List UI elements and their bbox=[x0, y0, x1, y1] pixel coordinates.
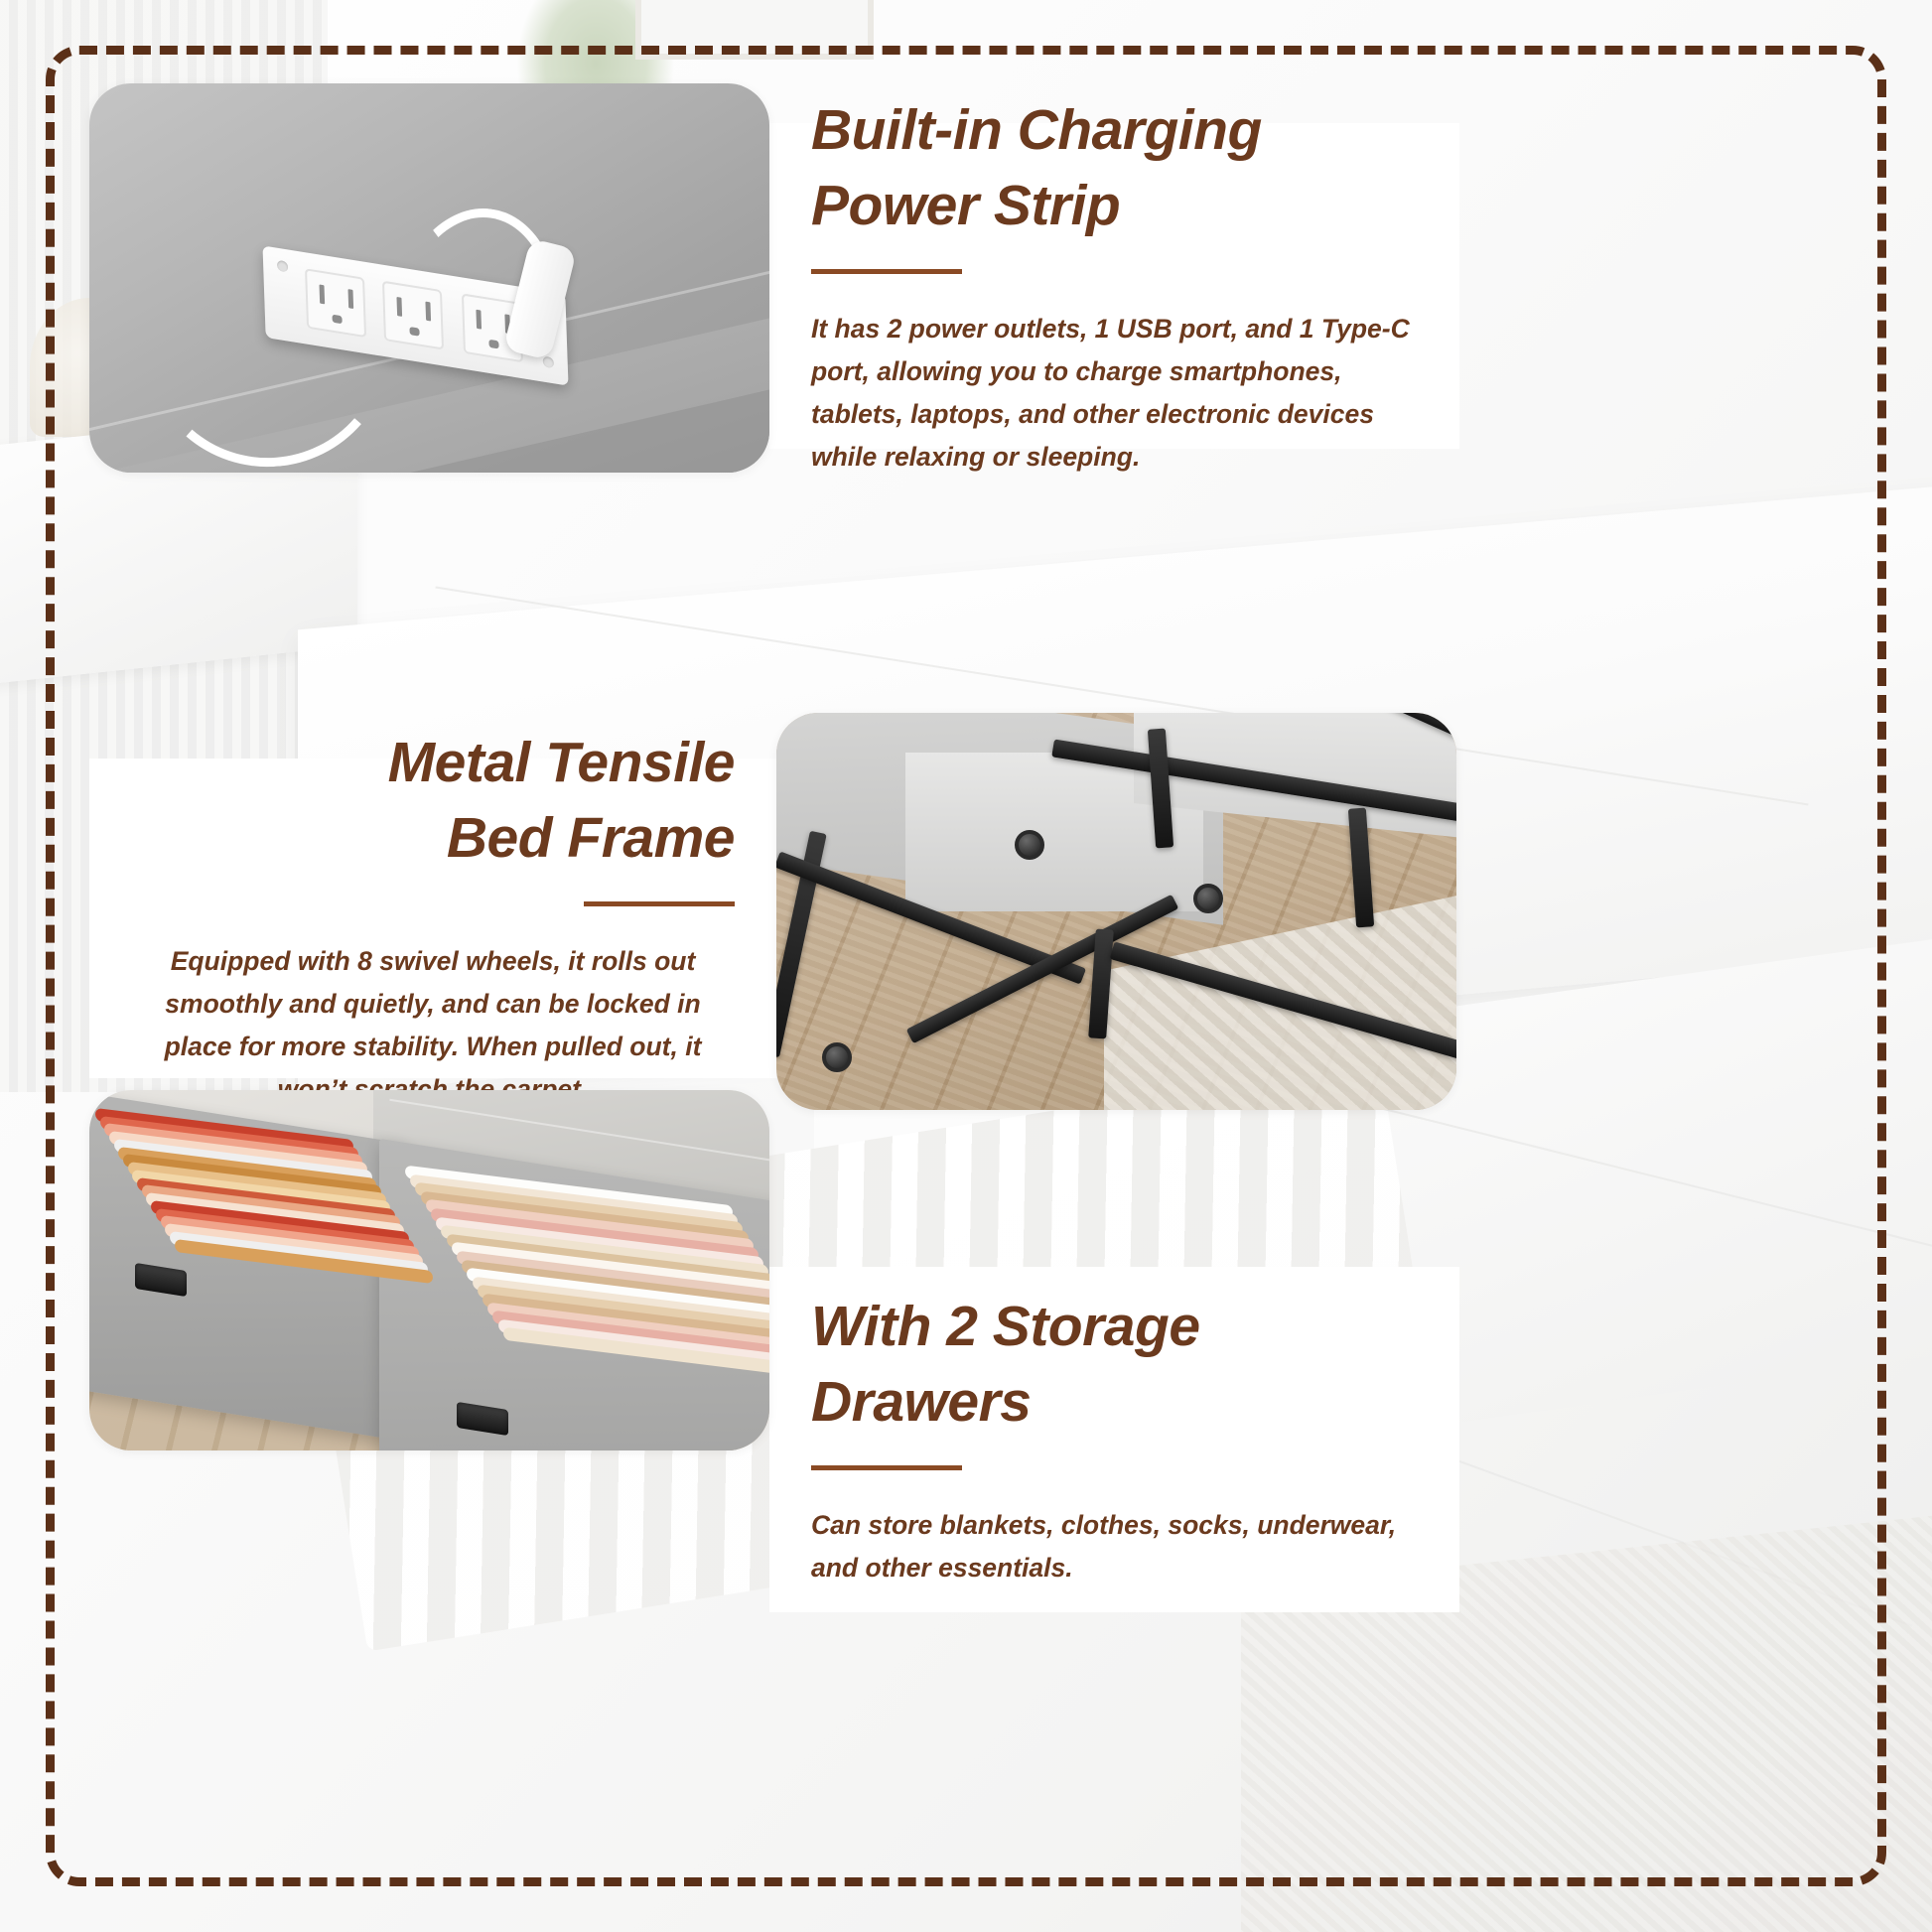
feature-text-panel-bed-frame: Metal Tensile Bed Frame Equipped with 8 … bbox=[89, 759, 776, 1078]
feature-text-panel-storage-drawers: With 2 Storage Drawers Can store blanket… bbox=[769, 1267, 1459, 1612]
feature-body-paragraph: It has 2 power outlets, 1 USB port, and … bbox=[811, 308, 1418, 479]
heading-divider-rule bbox=[811, 269, 962, 274]
feature-heading: With 2 Storage Drawers bbox=[811, 1290, 1418, 1439]
feature-body-text: It has 2 power outlets, 1 USB port, and … bbox=[811, 308, 1418, 479]
feature-heading-line-1: Built-in Charging bbox=[811, 93, 1418, 168]
feature-image-storage-drawers bbox=[89, 1090, 769, 1450]
feature-card-bed-frame: Metal Tensile Bed Frame Equipped with 8 … bbox=[89, 713, 1456, 1110]
heading-divider-rule bbox=[811, 1465, 962, 1470]
background-picture-frame bbox=[635, 0, 874, 60]
feature-card-storage-drawers: With 2 Storage Drawers Can store blanket… bbox=[89, 1090, 1459, 1612]
swivel-wheel-icon bbox=[822, 1042, 852, 1072]
feature-heading-line-1: Metal Tensile bbox=[131, 726, 735, 800]
heading-divider-rule bbox=[584, 901, 735, 906]
feature-body-paragraph: Equipped with 8 swivel wheels, it rolls … bbox=[131, 940, 735, 1111]
feature-card-power-strip: Built-in Charging Power Strip It has 2 p… bbox=[89, 83, 1459, 473]
feature-heading-line-2: Power Strip bbox=[811, 169, 1418, 243]
feature-text-panel-power-strip: Built-in Charging Power Strip It has 2 p… bbox=[769, 123, 1459, 449]
swivel-wheel-icon bbox=[1015, 830, 1044, 860]
feature-image-power-strip bbox=[89, 83, 769, 473]
feature-heading: Metal Tensile Bed Frame bbox=[131, 726, 735, 875]
feature-heading: Built-in Charging Power Strip bbox=[811, 93, 1418, 242]
feature-image-bed-frame bbox=[776, 713, 1456, 1110]
feature-heading-line-2: Bed Frame bbox=[131, 801, 735, 876]
feature-body-text: Can store blankets, clothes, socks, unde… bbox=[811, 1504, 1418, 1589]
feature-body-paragraph: Can store blankets, clothes, socks, unde… bbox=[811, 1504, 1418, 1589]
feature-body-text: Equipped with 8 swivel wheels, it rolls … bbox=[131, 940, 735, 1111]
swivel-wheel-icon bbox=[1193, 884, 1223, 913]
feature-heading-line-1: With 2 Storage Drawers bbox=[811, 1290, 1418, 1439]
